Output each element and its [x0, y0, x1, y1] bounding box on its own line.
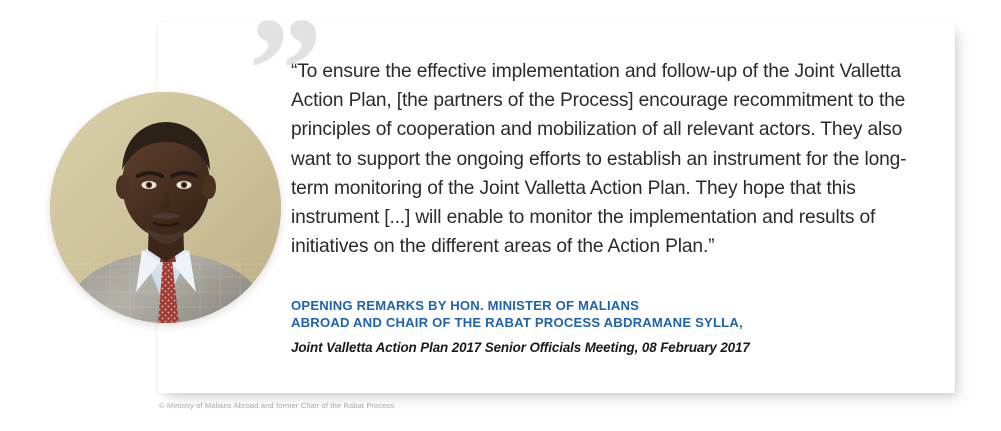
attribution-block: OPENING REMARKS BY HON. MINISTER OF MALI…: [291, 298, 941, 356]
footer-credit: © Ministry of Malians Abroad and former …: [159, 401, 394, 411]
attribution-line-1: OPENING REMARKS BY HON. MINISTER OF MALI…: [291, 298, 941, 315]
attribution-source: Joint Valletta Action Plan 2017 Senior O…: [291, 339, 941, 356]
portrait-image: [50, 92, 281, 323]
portrait-avatar: [50, 92, 281, 323]
quote-text: “To ensure the effective implementation …: [291, 57, 939, 261]
attribution-line-2: ABROAD AND CHAIR OF THE RABAT PROCESS AB…: [291, 315, 941, 332]
